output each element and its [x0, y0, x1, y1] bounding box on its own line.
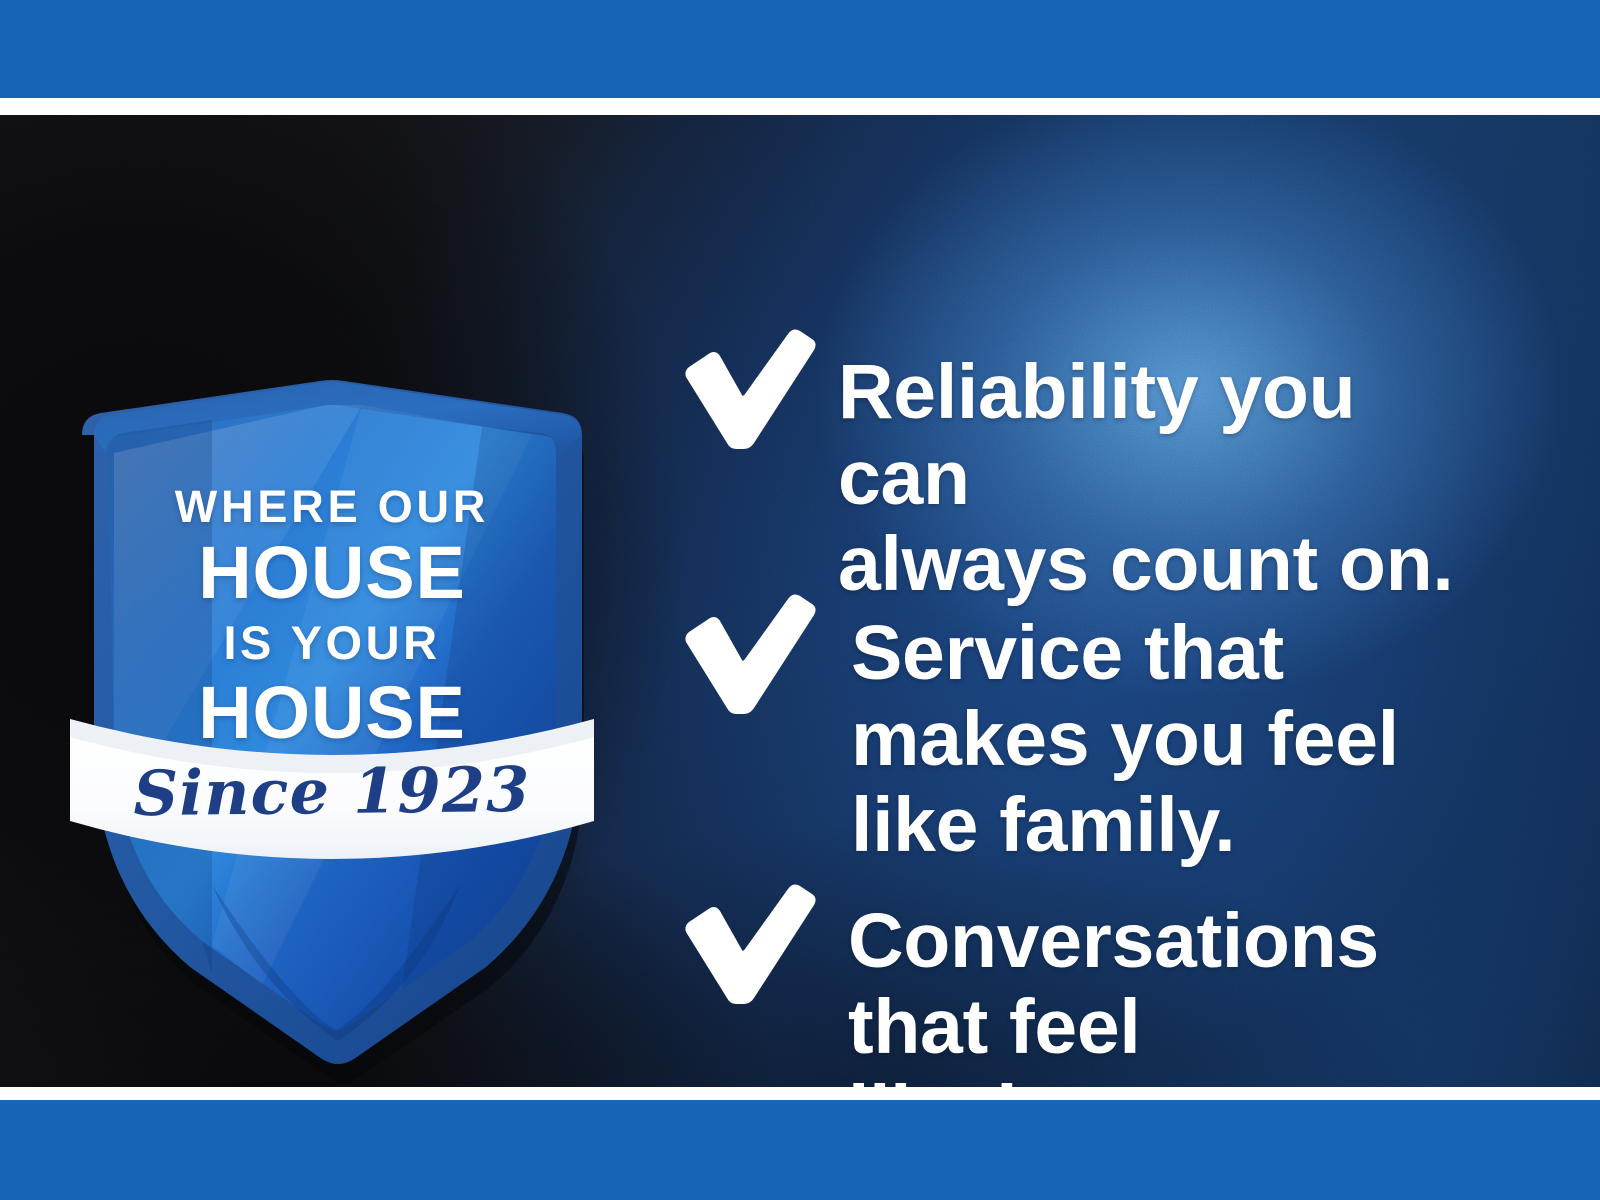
benefit-text: Reliability you can always count on.: [838, 349, 1500, 607]
benefits-list: Reliability you can always count on. Ser…: [670, 230, 1500, 1087]
promo-poster: WHERE OUR HOUSE IS YOUR HOUSE Since 1923…: [0, 0, 1600, 1200]
checkmark-icon: [670, 590, 818, 715]
benefit-text: Conversations that feel like home.: [848, 898, 1379, 1087]
checkmark-icon: [670, 880, 818, 1005]
benefit-item-reliability: Reliability you can always count on.: [670, 325, 1500, 607]
top-brand-bar: [0, 0, 1600, 98]
checkmark-icon: [670, 325, 818, 450]
bottom-brand-bar: [0, 1100, 1600, 1200]
shield-graphic: [62, 285, 602, 1075]
since-1923-shield-badge: WHERE OUR HOUSE IS YOUR HOUSE Since 1923: [62, 285, 602, 1075]
benefit-item-conversations: Conversations that feel like home.: [670, 880, 1379, 1087]
benefit-item-service: Service that makes you feel like family.: [670, 590, 1399, 868]
benefit-text: Service that makes you feel like family.: [851, 610, 1399, 868]
main-stage: WHERE OUR HOUSE IS YOUR HOUSE Since 1923…: [0, 115, 1600, 1087]
